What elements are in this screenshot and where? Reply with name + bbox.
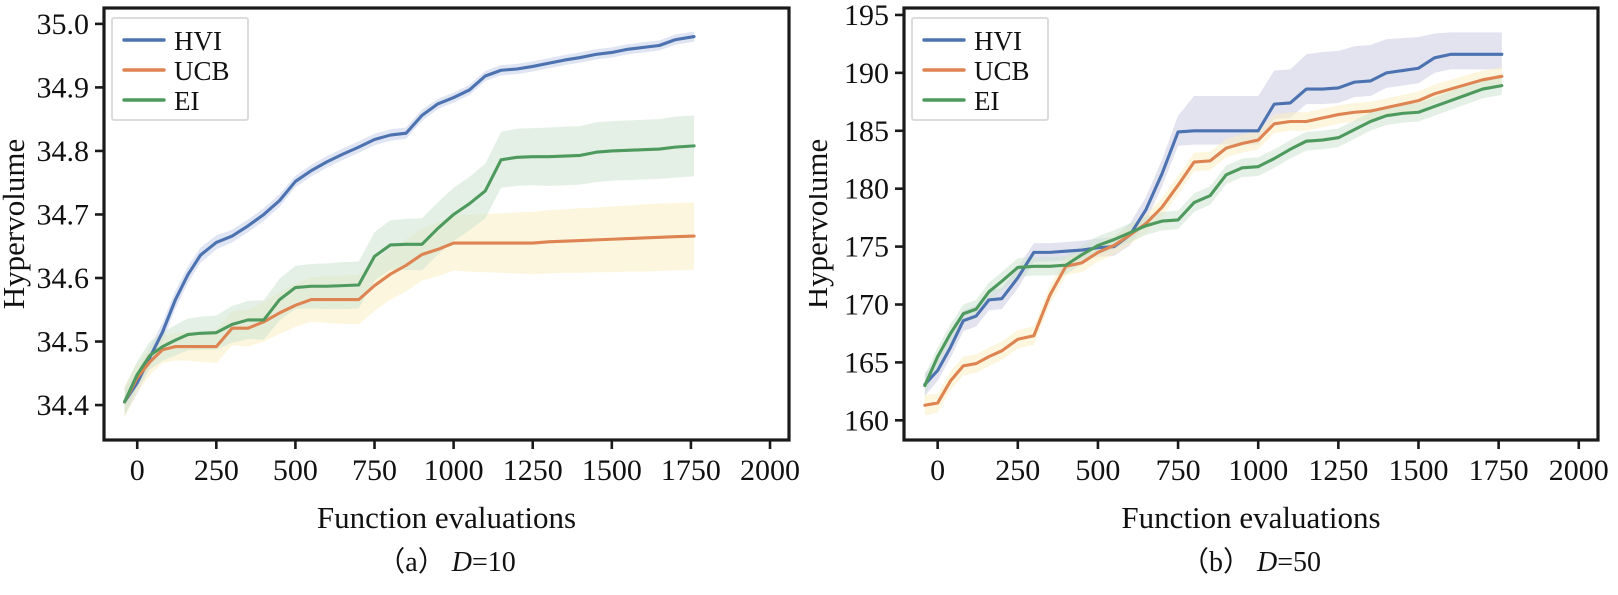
- caption-prefix: （a）: [377, 546, 445, 578]
- x-tick-label: 1000: [1228, 454, 1288, 487]
- x-tick-label: 2000: [740, 454, 800, 487]
- y-tick-label: 185: [844, 115, 889, 148]
- x-tick-label: 0: [930, 454, 945, 487]
- legend-label-ei[interactable]: EI: [974, 86, 999, 116]
- figure-container: 02505007501000125015001750200034.434.534…: [0, 0, 1618, 595]
- y-tick-label: 170: [844, 288, 889, 321]
- y-tick-label: 34.6: [37, 262, 90, 295]
- legend-label-hvi[interactable]: HVI: [174, 26, 222, 56]
- x-tick-label: 750: [352, 454, 397, 487]
- y-tick-label: 34.5: [37, 326, 90, 359]
- y-tick-label: 180: [844, 173, 889, 206]
- caption-prefix: （b）: [1181, 546, 1251, 578]
- y-tick-label: 34.8: [37, 135, 90, 168]
- x-tick-label: 250: [194, 454, 239, 487]
- y-tick-label: 34.4: [37, 389, 90, 422]
- x-tick-label: 750: [1156, 454, 1201, 487]
- y-axis-label: Hypervolume: [0, 139, 31, 309]
- legend-label-ucb[interactable]: UCB: [974, 56, 1030, 86]
- y-tick-label: 195: [844, 0, 889, 32]
- legend-label-ei[interactable]: EI: [174, 86, 199, 116]
- y-tick-label: 175: [844, 231, 889, 264]
- x-tick-label: 500: [273, 454, 318, 487]
- panel-b: 0250500750100012501500175020001601651701…: [809, 0, 1618, 595]
- panel-a-plot: 02505007501000125015001750200034.434.534…: [0, 0, 809, 595]
- x-tick-label: 1000: [424, 454, 484, 487]
- x-axis-label: Function evaluations: [1121, 500, 1380, 535]
- x-tick-label: 1750: [661, 454, 721, 487]
- y-tick-label: 165: [844, 346, 889, 379]
- panel-caption: （a）D=10: [377, 546, 515, 578]
- legend-label-ucb[interactable]: UCB: [174, 56, 230, 86]
- x-tick-label: 500: [1075, 454, 1120, 487]
- y-axis-label: Hypervolume: [809, 139, 834, 309]
- x-tick-label: 1250: [503, 454, 563, 487]
- x-tick-label: 1500: [582, 454, 642, 487]
- panel-b-plot: 0250500750100012501500175020001601651701…: [809, 0, 1618, 595]
- x-axis-label: Function evaluations: [317, 500, 576, 535]
- caption-value: =10: [472, 547, 516, 578]
- x-tick-label: 2000: [1549, 454, 1609, 487]
- x-tick-label: 1500: [1388, 454, 1448, 487]
- panel-a: 02505007501000125015001750200034.434.534…: [0, 0, 809, 595]
- y-tick-label: 35.0: [37, 8, 90, 41]
- x-tick-label: 0: [130, 454, 145, 487]
- panel-a-chart: 02505007501000125015001750200034.434.534…: [0, 0, 809, 595]
- y-tick-label: 34.9: [37, 71, 90, 104]
- x-tick-label: 1750: [1469, 454, 1529, 487]
- x-tick-label: 250: [995, 454, 1040, 487]
- caption-value: =50: [1277, 547, 1321, 578]
- caption-variable: D: [451, 547, 472, 578]
- panel-b-chart: 0250500750100012501500175020001601651701…: [809, 0, 1618, 595]
- caption-variable: D: [1256, 547, 1277, 578]
- x-tick-label: 1250: [1308, 454, 1368, 487]
- y-tick-label: 190: [844, 57, 889, 90]
- y-tick-label: 34.7: [37, 198, 90, 231]
- legend-label-hvi[interactable]: HVI: [974, 26, 1022, 56]
- panel-caption: （b）D=50: [1181, 546, 1321, 578]
- y-tick-label: 160: [844, 404, 889, 437]
